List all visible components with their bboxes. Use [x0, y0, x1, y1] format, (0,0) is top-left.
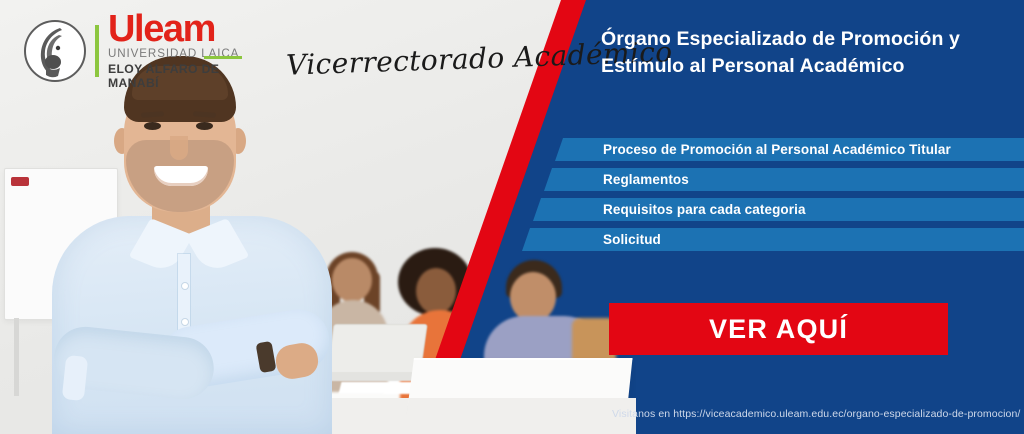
ribbon-label: Reglamentos — [603, 172, 689, 187]
ribbon-label: Solicitud — [603, 232, 661, 247]
ribbon-label: Requisitos para cada categoria — [603, 202, 806, 217]
banner-headline: Órgano Especializado de Promoción y Estí… — [601, 26, 1003, 79]
footer-url-link[interactable]: Visitanos en https://viceacademico.uleam… — [612, 408, 1020, 420]
meeting-table-front — [404, 398, 636, 434]
laptop-prop — [326, 324, 427, 376]
ver-aqui-button[interactable]: VER AQUÍ — [609, 303, 948, 355]
promo-banner: Uleam UNIVERSIDAD LAICA ELOY ALFARO DE M… — [0, 0, 1024, 434]
ribbon-item-requisitos[interactable]: Requisitos para cada categoria — [0, 198, 1024, 221]
photo-bleed-overlay — [404, 236, 636, 434]
ribbon-item-solicitud[interactable]: Solicitud — [0, 228, 1024, 251]
logo-subtitle-2: ELOY ALFARO DE MANABÍ — [108, 62, 240, 91]
logo-accent-bar — [95, 25, 99, 77]
logo-subtitle-1: UNIVERSIDAD LAICA — [108, 47, 240, 61]
uleam-seal-icon — [24, 20, 86, 82]
ribbon-label: Proceso de Promoción al Personal Académi… — [603, 142, 951, 157]
ribbon-item-reglamentos[interactable]: Reglamentos — [0, 168, 1024, 191]
logo-wordmark: Uleam — [108, 11, 240, 47]
whiteboard-leg — [14, 318, 19, 396]
papers-prop — [339, 382, 418, 394]
logo-wordmark-block: Uleam UNIVERSIDAD LAICA ELOY ALFARO DE M… — [108, 11, 240, 91]
ribbon-list: Proceso de Promoción al Personal Académi… — [0, 138, 1024, 258]
uleam-logo[interactable]: Uleam UNIVERSIDAD LAICA ELOY ALFARO DE M… — [24, 18, 240, 84]
ribbon-item-proceso[interactable]: Proceso de Promoción al Personal Académi… — [0, 138, 1024, 161]
